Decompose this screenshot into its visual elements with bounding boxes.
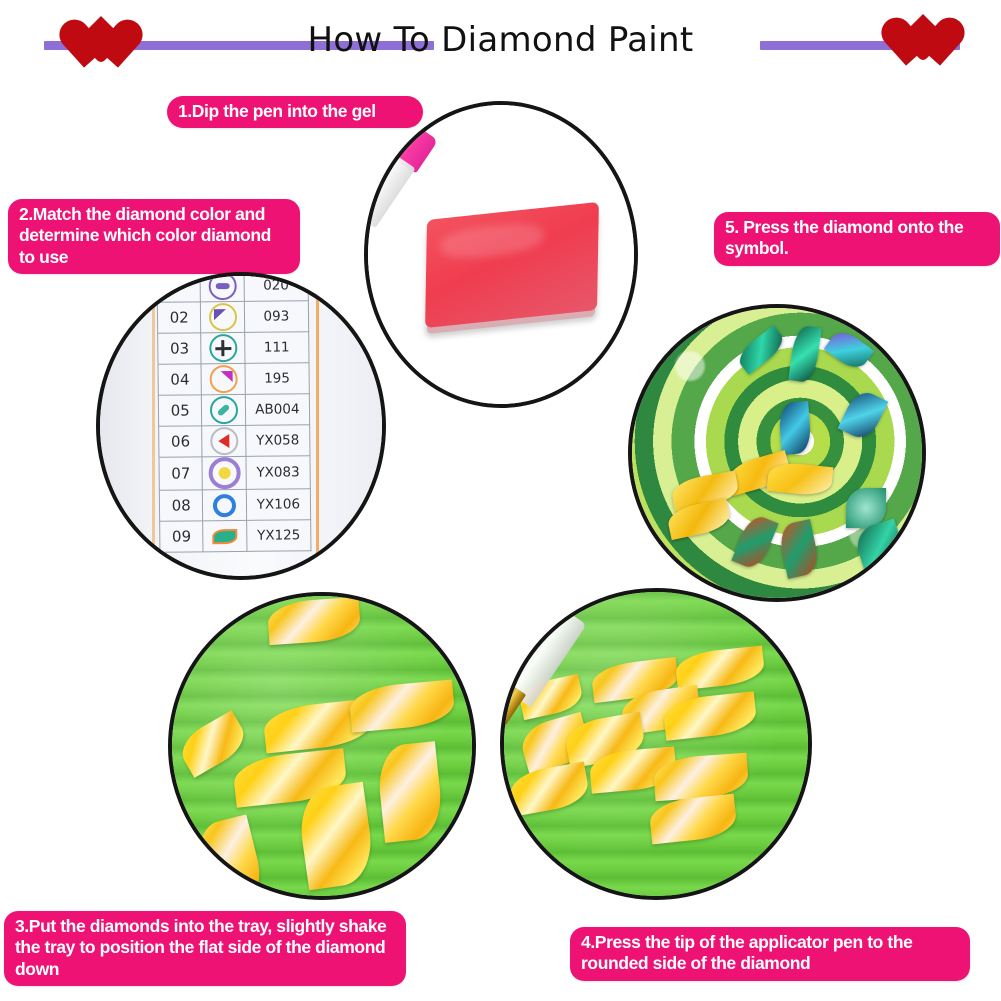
chart-cell-code: YX125	[246, 520, 311, 552]
chart-cell-number	[157, 272, 201, 302]
red-arrow-circle-icon	[210, 427, 238, 455]
chart-cell-symbol	[201, 332, 245, 363]
photo-diamonds-in-tray	[168, 592, 476, 900]
page-title: How To Diamond Paint	[0, 20, 1001, 60]
step-3-label: 3.Put the diamonds into the tray, slight…	[4, 911, 406, 986]
chart-cell-symbol	[202, 425, 246, 456]
magenta-triangle-circle-icon	[209, 365, 237, 393]
chart-cell-code: AB004	[245, 394, 310, 426]
teal-slash-circle-icon	[209, 396, 237, 424]
table-row: 05AB004	[158, 394, 309, 427]
chart-cell-symbol	[200, 272, 244, 302]
chart-cell-symbol	[202, 394, 246, 425]
chart-cell-code: YX106	[246, 489, 311, 521]
chart-cell-symbol	[203, 489, 247, 520]
table-row: 020	[157, 272, 308, 302]
chart-cell-number: 06	[159, 426, 203, 457]
chart-cell-number: 03	[158, 333, 202, 364]
step-2-label: 2.Match the diamond color and determine …	[8, 199, 300, 274]
chart-cell-number: 05	[158, 395, 202, 426]
chart-cell-number: 08	[159, 490, 203, 521]
photo-diamond-onto-symbol	[628, 304, 926, 602]
double-dot-circle-icon	[208, 272, 236, 300]
step-5-label: 5. Press the diamond onto the symbol.	[714, 212, 1000, 266]
table-row: 02093	[157, 301, 308, 334]
table-row: 08YX106	[159, 489, 310, 522]
table-row: 04195	[158, 363, 309, 396]
blue-open-ring-icon	[212, 493, 236, 517]
chart-cell-code: 195	[245, 363, 310, 395]
chart-cell-symbol	[201, 363, 245, 394]
chart-cell-number: 09	[160, 521, 204, 552]
chart-cell-code: 020	[244, 272, 309, 301]
table-row: 03111	[158, 332, 309, 365]
chart-cell-symbol	[202, 456, 246, 489]
plus-circle-icon	[209, 334, 237, 362]
chart-margin-stripe	[316, 276, 319, 576]
chart-cell-number: 07	[159, 457, 203, 490]
quarter-triangle-circle-icon	[208, 303, 236, 331]
table-row: 06YX058	[159, 425, 310, 458]
yellow-dot-purple-ring-icon	[208, 457, 240, 489]
table-row: 09YX125	[160, 520, 311, 553]
step-4-label: 4.Press the tip of the applicator pen to…	[570, 927, 970, 981]
chart-cell-number: 02	[157, 302, 201, 333]
photo-pen-picking-diamond	[500, 588, 812, 900]
green-leaf-orange-edge-icon	[213, 524, 237, 548]
diamond-color-chart-table: 02002093031110419505AB00406YX05807YX0830…	[157, 272, 312, 553]
page-header: How To Diamond Paint	[0, 0, 1001, 86]
chart-margin-stripe	[152, 276, 155, 576]
chart-cell-symbol	[203, 520, 247, 551]
table-row: 07YX083	[159, 456, 310, 491]
chart-cell-code: YX083	[246, 456, 311, 490]
gel-pad	[425, 202, 599, 328]
photo-color-chart: 02002093031110419505AB00406YX05807YX0830…	[96, 272, 386, 580]
chart-cell-code: 093	[244, 301, 309, 333]
chart-cell-code: 111	[244, 332, 309, 364]
chart-cell-number: 04	[158, 364, 202, 395]
chart-cell-symbol	[201, 301, 245, 332]
photo-pen-dipping-gel	[364, 101, 638, 408]
chart-cell-code: YX058	[245, 425, 310, 457]
